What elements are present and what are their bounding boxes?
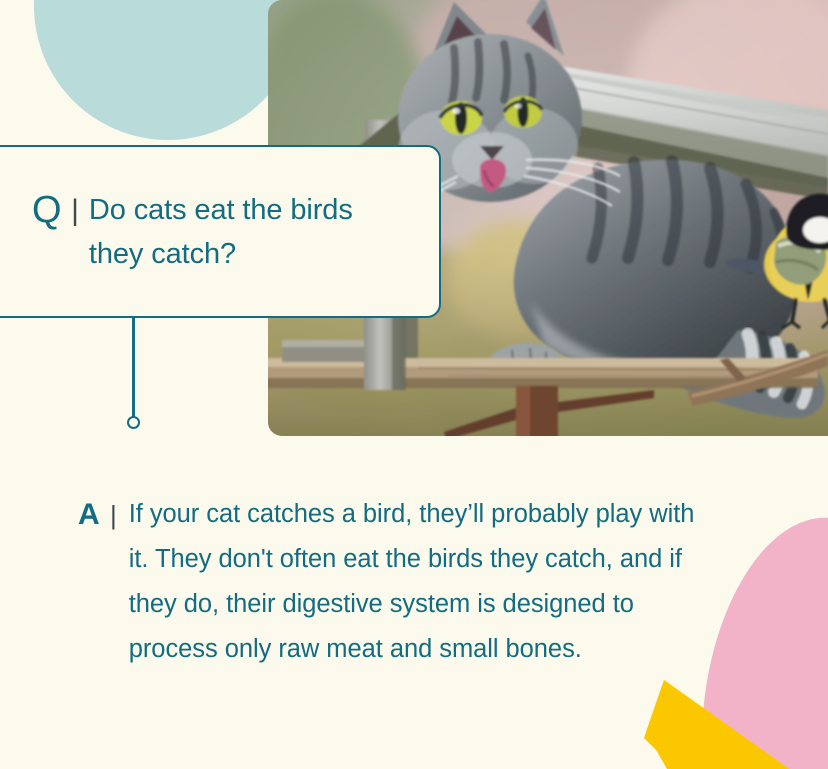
faq-card-canvas: Q | Do cats eat the birds they catch? A …: [0, 0, 828, 769]
question-letter: Q: [32, 188, 62, 232]
answer-letter: A: [78, 492, 100, 537]
yellow-triangle-decoration: [640, 672, 828, 769]
question-divider: |: [71, 188, 79, 234]
connector-line: [132, 316, 135, 419]
answer-block: A | If your cat catches a bird, they’ll …: [78, 492, 758, 672]
connector-dot-icon: [127, 416, 140, 429]
answer-text: If your cat catches a bird, they’ll prob…: [129, 492, 709, 672]
yellow-triangle-shape: [640, 672, 828, 769]
answer-divider: |: [110, 492, 117, 538]
question-text: Do cats eat the birds they catch?: [89, 188, 389, 276]
question-card-content: Q | Do cats eat the birds they catch?: [0, 188, 407, 276]
teal-circle-decoration: [34, 0, 302, 140]
connector: [127, 316, 141, 436]
question-card: Q | Do cats eat the birds they catch?: [0, 145, 441, 318]
